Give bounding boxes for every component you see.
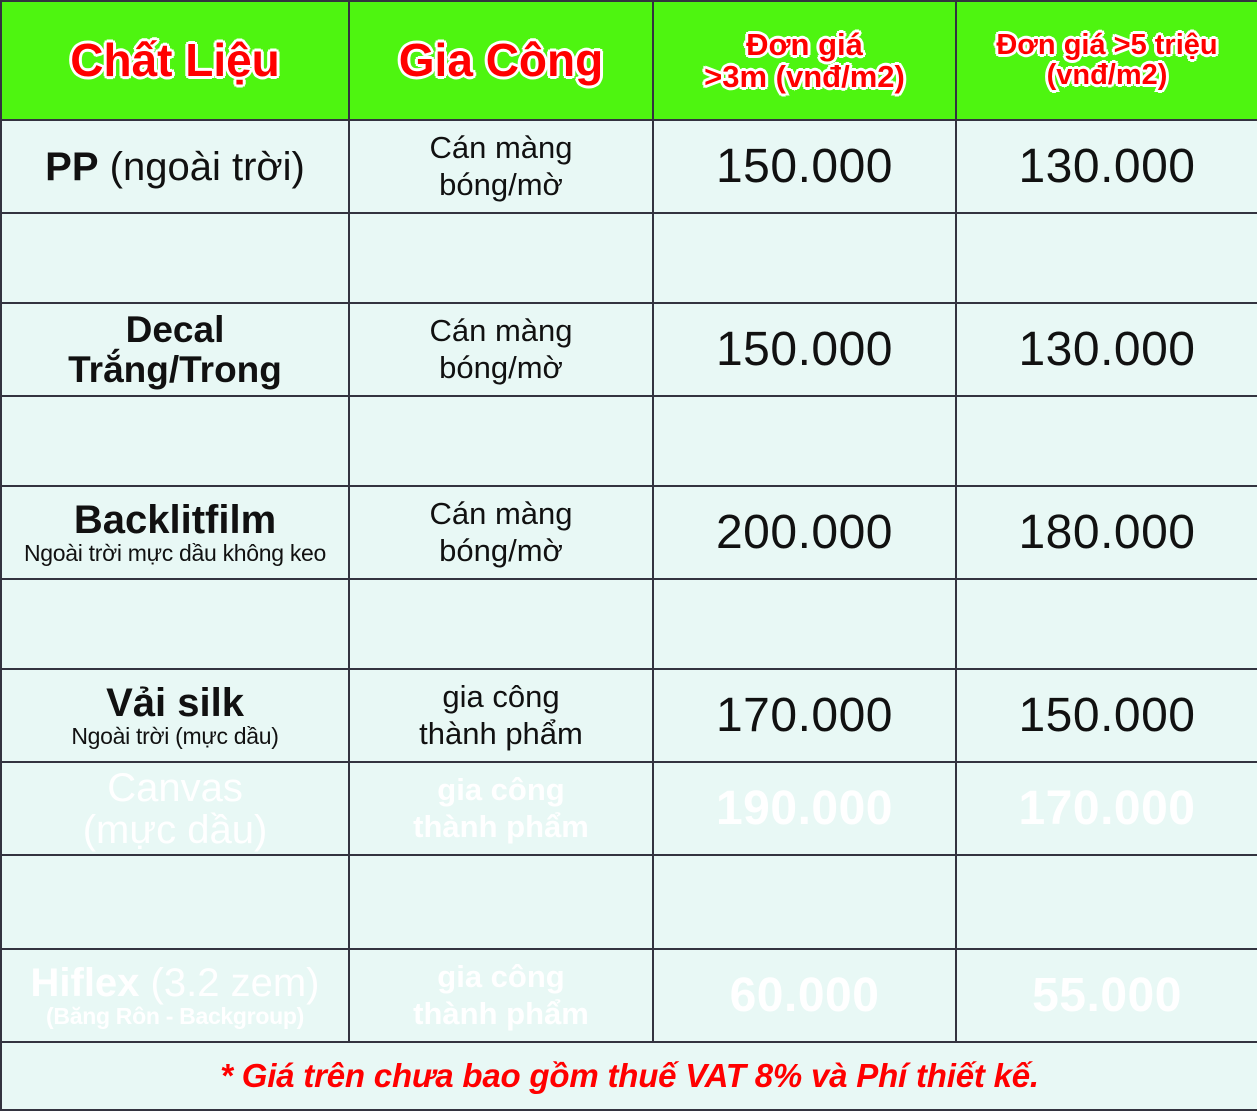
cell-price-5tr: 130.000: [956, 120, 1257, 213]
spacer-cell: [1, 855, 349, 949]
cell-price-3m-value: 190.000: [658, 785, 951, 833]
material-name-suffix: (3.2 zem): [139, 961, 319, 1005]
column-header-price-3m: Đơn giá >3m (vnđ/m2): [653, 1, 956, 120]
spacer-cell: [653, 213, 956, 303]
price-table: Chất Liệu Gia Công Đơn giá >3m (vnđ/m2) …: [0, 0, 1257, 1111]
cell-material: BacklitfilmNgoài trời mực dầu không keo: [1, 486, 349, 579]
cell-price-3m: 190.000: [653, 762, 956, 855]
material-name-line: PP (ngoài trời): [6, 146, 344, 188]
spacer-row: [1, 855, 1257, 949]
cell-price-5tr-value: 130.000: [961, 326, 1253, 374]
cell-process: Cán màngbóng/mờ: [349, 120, 653, 213]
material-name: Backlitfilm: [74, 498, 276, 542]
cell-price-3m-value: 170.000: [658, 692, 951, 740]
table-footer: * Giá trên chưa bao gồm thuế VAT 8% và P…: [1, 1042, 1257, 1110]
process-line-2: bóng/mờ: [354, 167, 648, 204]
spacer-cell: [349, 855, 653, 949]
process-line-1: gia công: [354, 959, 648, 996]
material-subtitle: (Băng Rôn - Backgroup): [6, 1004, 344, 1029]
column-header-material-label: Chất Liệu: [8, 37, 342, 84]
process-line-1: gia công: [354, 679, 648, 716]
table-row[interactable]: PP (ngoài trời)Cán màngbóng/mờ150.000130…: [1, 120, 1257, 213]
material-subtitle: Ngoài trời mực dầu không keo: [6, 541, 344, 566]
cell-process: gia côngthành phẩm: [349, 762, 653, 855]
cell-price-5tr-value: 170.000: [961, 785, 1253, 833]
spacer-cell: [956, 396, 1257, 486]
process-line-2: thành phẩm: [354, 716, 648, 753]
spacer-cell: [653, 579, 956, 669]
cell-price-3m-value: 200.000: [658, 509, 951, 557]
cell-material: DecalTrắng/Trong: [1, 303, 349, 396]
cell-process: Cán màngbóng/mờ: [349, 303, 653, 396]
cell-price-3m: 150.000: [653, 303, 956, 396]
header-row: Chất Liệu Gia Công Đơn giá >3m (vnđ/m2) …: [1, 1, 1257, 120]
spacer-cell: [1, 213, 349, 303]
spacer-cell: [349, 396, 653, 486]
process-line-2: thành phẩm: [354, 809, 648, 846]
material-name-line: Hiflex (3.2 zem): [6, 962, 344, 1004]
process-line-1: Cán màng: [354, 130, 648, 167]
spacer-row: [1, 213, 1257, 303]
cell-price-3m: 150.000: [653, 120, 956, 213]
cell-price-3m-value: 150.000: [658, 326, 951, 374]
table-body: PP (ngoài trời)Cán màngbóng/mờ150.000130…: [1, 120, 1257, 1042]
price-table-sheet: Chất Liệu Gia Công Đơn giá >3m (vnđ/m2) …: [0, 0, 1257, 1111]
spacer-row: [1, 579, 1257, 669]
column-header-price-5tr: Đơn giá >5 triệu (vnđ/m2): [956, 1, 1257, 120]
process-line-2: bóng/mờ: [354, 533, 648, 570]
column-header-material: Chất Liệu: [1, 1, 349, 120]
spacer-cell: [956, 855, 1257, 949]
cell-price-3m: 60.000: [653, 949, 956, 1042]
table-header: Chất Liệu Gia Công Đơn giá >3m (vnđ/m2) …: [1, 1, 1257, 120]
cell-price-5tr: 150.000: [956, 669, 1257, 762]
material-name-line: Canvas: [6, 767, 344, 809]
cell-price-5tr-value: 130.000: [961, 143, 1253, 191]
cell-process: gia côngthành phẩm: [349, 669, 653, 762]
cell-price-5tr-value: 180.000: [961, 509, 1253, 557]
table-row[interactable]: Canvas(mực dầu)gia côngthành phẩm190.000…: [1, 762, 1257, 855]
table-row[interactable]: Vải silkNgoài trời (mực dầu)gia côngthàn…: [1, 669, 1257, 762]
table-row[interactable]: BacklitfilmNgoài trời mực dầu không keoC…: [1, 486, 1257, 579]
cell-price-3m: 200.000: [653, 486, 956, 579]
process-line-2: bóng/mờ: [354, 350, 648, 387]
cell-price-3m: 170.000: [653, 669, 956, 762]
cell-material: Canvas(mực dầu): [1, 762, 349, 855]
material-name-line: Vải silk: [6, 682, 344, 724]
spacer-cell: [956, 579, 1257, 669]
table-row[interactable]: DecalTrắng/TrongCán màngbóng/mờ150.00013…: [1, 303, 1257, 396]
cell-price-5tr-value: 55.000: [961, 972, 1253, 1020]
material-subtitle: Trắng/Trong: [6, 350, 344, 390]
material-name: PP: [45, 145, 98, 189]
column-header-price-3m-line1: Đơn giá: [660, 29, 949, 61]
process-line-2: thành phẩm: [354, 996, 648, 1033]
cell-process: Cán màngbóng/mờ: [349, 486, 653, 579]
material-name-suffix: (ngoài trời): [99, 145, 305, 189]
column-header-price-5tr-line2: (vnđ/m2): [963, 61, 1251, 91]
process-line-1: Cán màng: [354, 496, 648, 533]
cell-price-3m-value: 150.000: [658, 143, 951, 191]
cell-material: Vải silkNgoài trời (mực dầu): [1, 669, 349, 762]
spacer-cell: [349, 213, 653, 303]
cell-process: gia côngthành phẩm: [349, 949, 653, 1042]
process-line-1: gia công: [354, 772, 648, 809]
spacer-cell: [349, 579, 653, 669]
footer-note-text: * Giá trên chưa bao gồm thuế VAT 8% và P…: [220, 1057, 1039, 1094]
spacer-cell: [1, 579, 349, 669]
column-header-price-3m-line2: >3m (vnđ/m2): [660, 61, 949, 93]
material-subtitle: Ngoài trời (mực dầu): [6, 724, 344, 749]
cell-material: Hiflex (3.2 zem)(Băng Rôn - Backgroup): [1, 949, 349, 1042]
material-name: Vải silk: [106, 681, 244, 725]
spacer-cell: [1, 396, 349, 486]
cell-price-5tr: 130.000: [956, 303, 1257, 396]
column-header-process: Gia Công: [349, 1, 653, 120]
material-name: Hiflex: [31, 961, 140, 1005]
cell-material: PP (ngoài trời): [1, 120, 349, 213]
table-row[interactable]: Hiflex (3.2 zem)(Băng Rôn - Backgroup)gi…: [1, 949, 1257, 1042]
cell-price-5tr-value: 150.000: [961, 692, 1253, 740]
cell-price-5tr: 170.000: [956, 762, 1257, 855]
column-header-price-5tr-line1: Đơn giá >5 triệu: [963, 31, 1251, 61]
material-subtitle: (mực dầu): [6, 809, 344, 851]
cell-price-5tr: 55.000: [956, 949, 1257, 1042]
spacer-cell: [956, 213, 1257, 303]
spacer-row: [1, 396, 1257, 486]
footer-row: * Giá trên chưa bao gồm thuế VAT 8% và P…: [1, 1042, 1257, 1110]
material-name: Decal: [6, 310, 344, 350]
footer-note-cell: * Giá trên chưa bao gồm thuế VAT 8% và P…: [1, 1042, 1257, 1110]
spacer-cell: [653, 396, 956, 486]
column-header-process-label: Gia Công: [356, 37, 646, 84]
cell-price-3m-value: 60.000: [658, 972, 951, 1020]
material-name: Canvas: [107, 766, 243, 810]
process-line-1: Cán màng: [354, 313, 648, 350]
spacer-cell: [653, 855, 956, 949]
cell-price-5tr: 180.000: [956, 486, 1257, 579]
material-name-line: Backlitfilm: [6, 499, 344, 541]
